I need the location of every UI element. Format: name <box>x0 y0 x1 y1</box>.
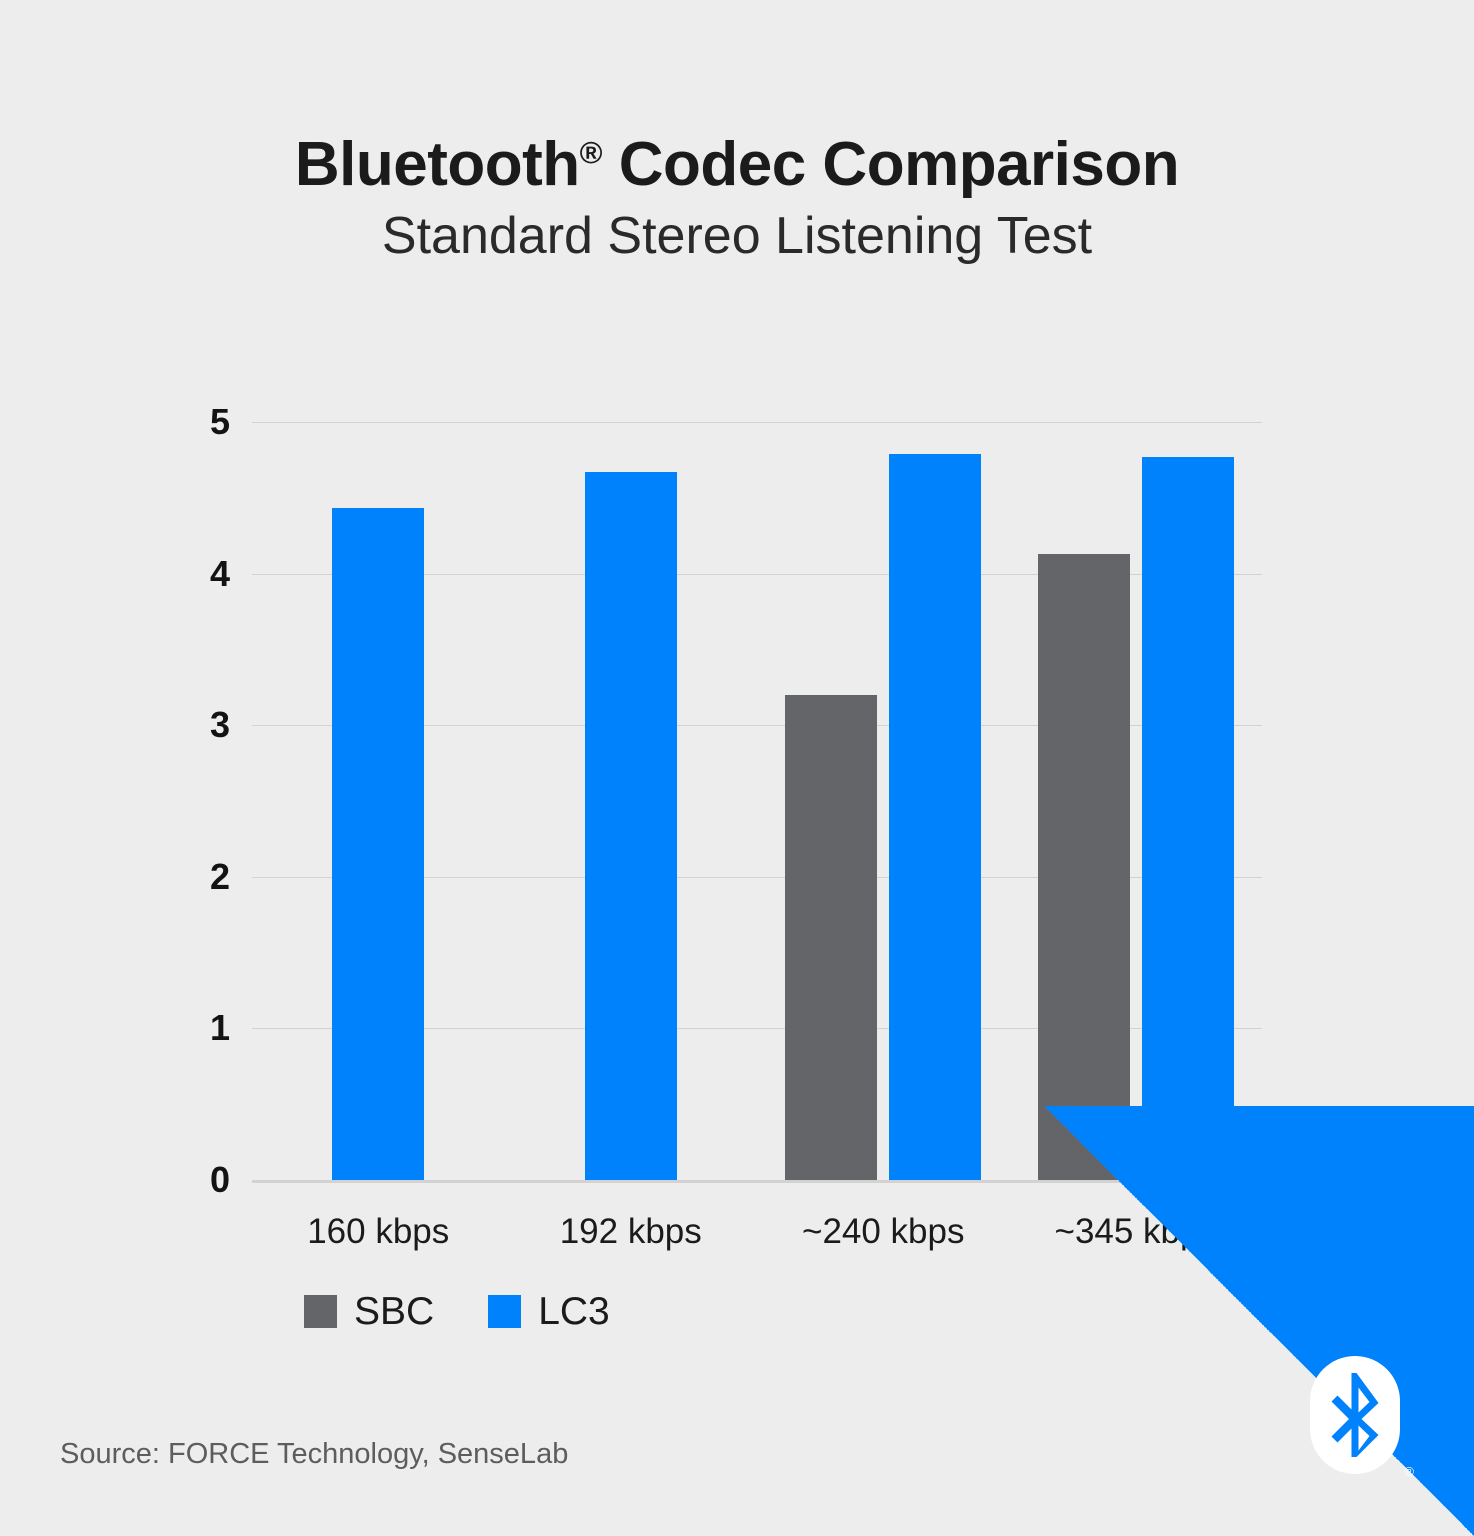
title-rest-text: Codec Comparison <box>602 130 1179 199</box>
page-subtitle: Standard Stereo Listening Test <box>0 207 1474 265</box>
y-tick-label-0: 0 <box>110 1159 230 1201</box>
chart-legend: SBCLC3 <box>304 1292 610 1331</box>
legend-swatch-sbc-icon <box>304 1295 337 1328</box>
legend-item-lc3[interactable]: LC3 <box>488 1292 610 1331</box>
registered-trademark-icon: ® <box>580 135 602 170</box>
y-tick-label-1: 1 <box>110 1007 230 1049</box>
legend-swatch-lc3-icon <box>488 1295 521 1328</box>
logo-registered-mark: ® <box>1404 1465 1414 1478</box>
y-tick-label-5: 5 <box>110 401 230 443</box>
legend-item-sbc[interactable]: SBC <box>304 1292 434 1331</box>
chart-header: Bluetooth® Codec Comparison Standard Ste… <box>0 132 1474 265</box>
bar-lc3-345kbps <box>1142 457 1234 1180</box>
bar-lc3-160kbps <box>332 508 424 1180</box>
bluetooth-logo <box>1310 1356 1400 1474</box>
bar-lc3-192kbps <box>585 472 677 1180</box>
gridline-0 <box>252 1180 1262 1183</box>
title-main-text: Bluetooth <box>295 130 580 199</box>
legend-label-sbc: SBC <box>354 1292 434 1331</box>
legend-label-lc3: LC3 <box>538 1292 610 1331</box>
bar-sbc-345kbps <box>1038 554 1130 1180</box>
x-tick-label-192kbps: 192 kbps <box>560 1212 702 1252</box>
x-tick-label-160kbps: 160 kbps <box>307 1212 449 1252</box>
y-tick-label-3: 3 <box>110 704 230 746</box>
source-note: Source: FORCE Technology, SenseLab <box>60 1438 568 1471</box>
x-tick-label-345kbps: ~345 kbps <box>1055 1212 1218 1252</box>
bar-sbc-240kbps <box>785 695 877 1180</box>
bars-layer <box>252 422 1262 1180</box>
bar-lc3-240kbps <box>889 454 981 1180</box>
page-title: Bluetooth® Codec Comparison <box>0 132 1474 199</box>
y-tick-label-2: 2 <box>110 856 230 898</box>
chart-plot-area: 012345 160 kbps192 kbps~240 kbps~345 kbp… <box>252 422 1262 1180</box>
x-tick-label-240kbps: ~240 kbps <box>802 1212 965 1252</box>
y-tick-label-4: 4 <box>110 553 230 595</box>
